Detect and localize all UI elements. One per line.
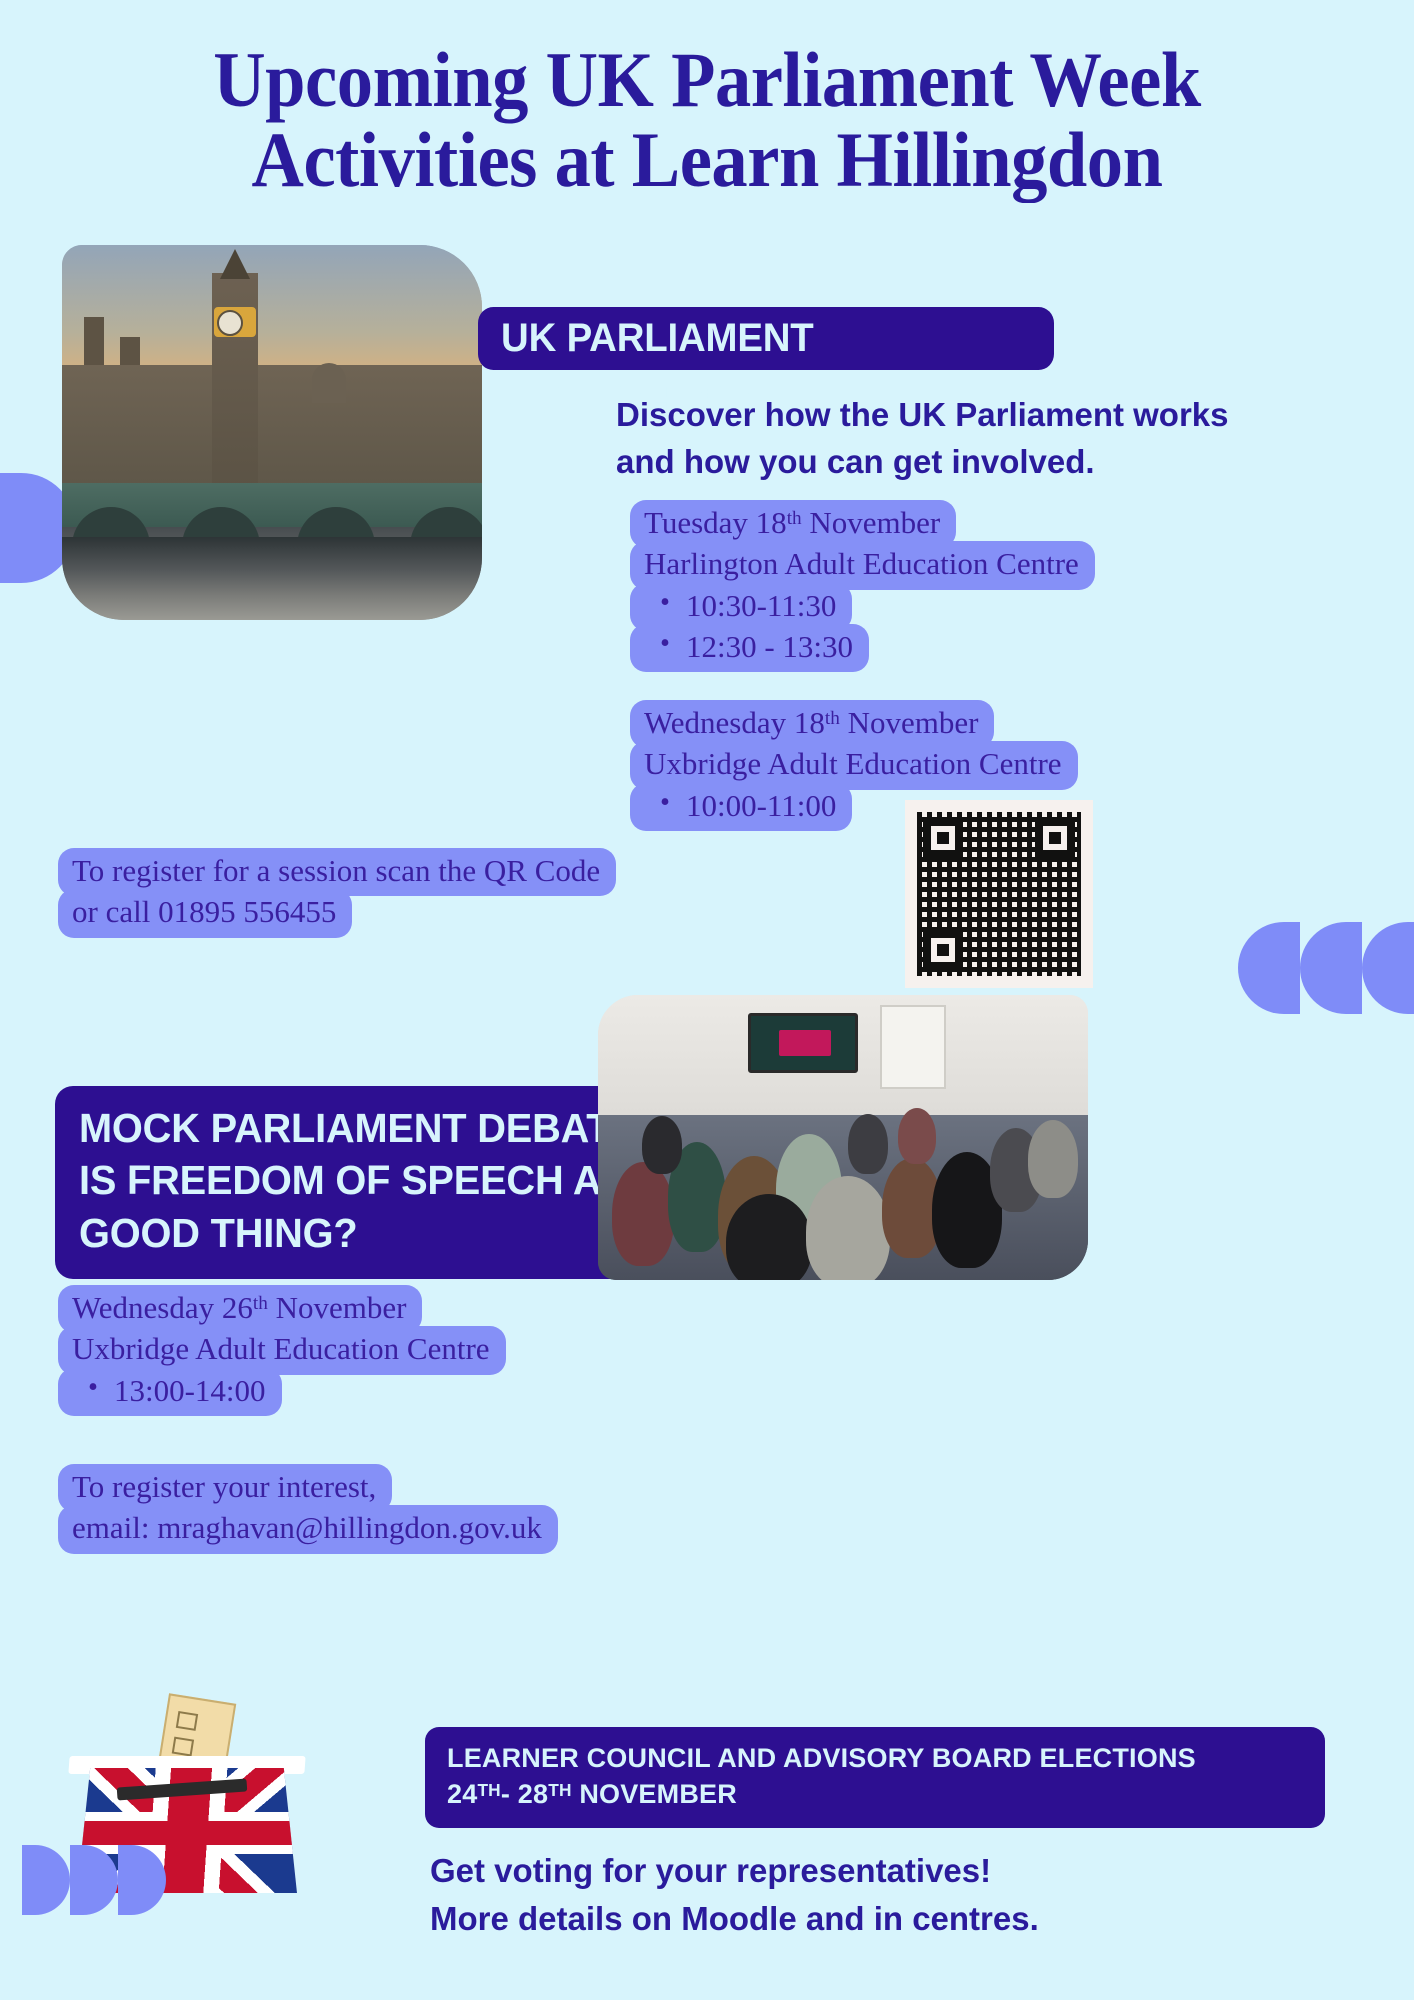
title-line-2: Activities at Learn Hillingdon	[49, 120, 1364, 200]
houses-of-parliament-photo	[62, 245, 482, 620]
elections-banner-dates: 24TH- 28TH NOVEMBER	[447, 1777, 1305, 1813]
photo-person	[806, 1176, 890, 1280]
half-circle-shape	[70, 1845, 118, 1915]
photo-person	[1028, 1120, 1078, 1198]
qr-code[interactable]	[905, 800, 1093, 988]
debate-session-block: Wednesday 26th November Uxbridge Adult E…	[58, 1285, 506, 1416]
register-email-line[interactable]: email: mraghavan@hillingdon.gov.uk	[58, 1505, 558, 1553]
half-circle-shape	[1362, 922, 1414, 1014]
session-time: 13:00-14:00	[58, 1368, 282, 1416]
qr-finder-icon	[1035, 818, 1075, 858]
page-title: Upcoming UK Parliament Week Activities a…	[49, 40, 1364, 199]
qr-finder-icon	[923, 930, 963, 970]
workshops-intro-text: Discover how the UK Parliament works and…	[616, 392, 1376, 486]
session-time: 10:00-11:00	[630, 783, 852, 831]
qr-finder-icon	[923, 818, 963, 858]
elections-cta-line-2: More details on Moodle and in centres.	[430, 1895, 1330, 1943]
photo-person	[898, 1108, 936, 1164]
workshop-session-block: Tuesday 18th November Harlington Adult E…	[630, 500, 1095, 672]
classroom-debate-photo	[598, 995, 1088, 1280]
session-time: 12:30 - 13:30	[630, 624, 869, 672]
elections-banner-title: LEARNER COUNCIL AND ADVISORY BOARD ELECT…	[447, 1741, 1305, 1777]
half-circle-shape	[1300, 922, 1362, 1014]
elections-cta-text: Get voting for your representatives! Mor…	[430, 1847, 1330, 1943]
photo-person	[612, 1162, 674, 1266]
decorative-half-circles-bottom	[22, 1845, 166, 1915]
workshops-intro-line-2: and how you can get involved.	[616, 439, 1376, 486]
photo-flipchart	[880, 1005, 946, 1089]
photo-clock-face	[214, 307, 256, 337]
elections-banner: LEARNER COUNCIL AND ADVISORY BOARD ELECT…	[425, 1727, 1325, 1828]
elections-cta-line-1: Get voting for your representatives!	[430, 1847, 1330, 1895]
decorative-half-circles-right	[1238, 922, 1414, 1014]
photo-dome	[312, 363, 346, 403]
photo-person	[848, 1114, 888, 1174]
workshops-intro-line-1: Discover how the UK Parliament works	[616, 392, 1376, 439]
register-line-2: or call 01895 556455	[58, 889, 352, 937]
photo-presentation-screen	[748, 1013, 858, 1073]
half-circle-shape	[1238, 922, 1300, 1014]
poster-canvas: Upcoming UK Parliament Week Activities a…	[0, 0, 1414, 2000]
photo-river-thames	[62, 537, 482, 620]
title-line-1: Upcoming UK Parliament Week	[213, 36, 1201, 123]
qr-code-pattern	[917, 812, 1081, 976]
half-circle-shape	[118, 1845, 166, 1915]
debate-register-block: To register your interest, email: mragha…	[58, 1464, 558, 1554]
photo-audience	[598, 1098, 1088, 1280]
workshops-banner: UK PARLIAMENT WORKSHOPS	[478, 307, 1054, 370]
workshop-register-block: To register for a session scan the QR Co…	[58, 848, 616, 938]
photo-person	[642, 1116, 682, 1174]
half-circle-shape	[22, 1845, 70, 1915]
